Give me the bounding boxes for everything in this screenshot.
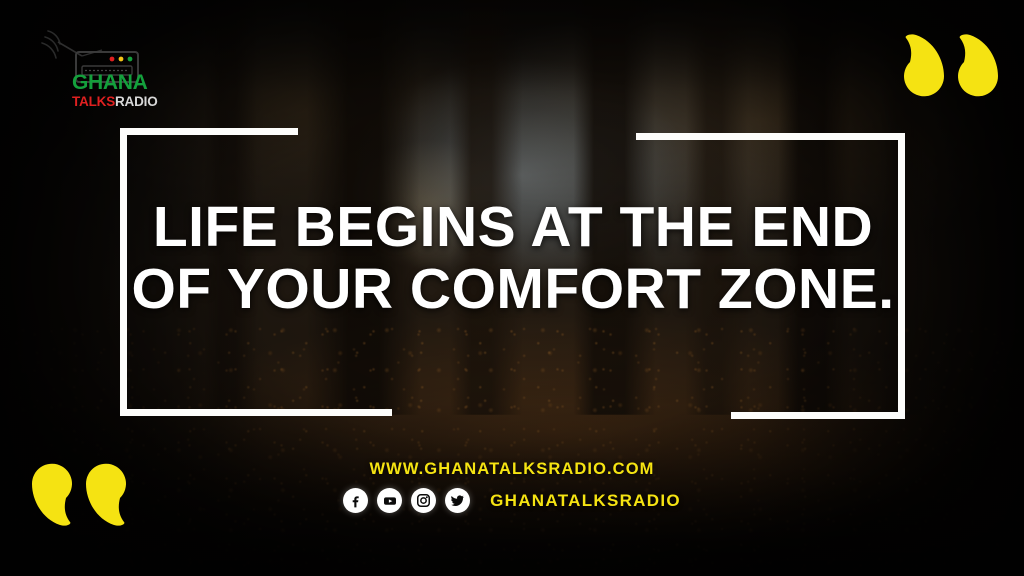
youtube-icon[interactable]	[377, 488, 402, 513]
instagram-glyph	[416, 493, 431, 508]
facebook-icon[interactable]	[343, 488, 368, 513]
quote-graphic-canvas: GHANA TALKSRADIO LIFE BEGINS AT THE END …	[0, 0, 1024, 576]
website-url[interactable]: WWW.GHANATALKSRADIO.COM	[0, 460, 1024, 479]
frame-border-bottom-left	[120, 409, 392, 416]
footer: WWW.GHANATALKSRADIO.COM	[0, 460, 1024, 513]
instagram-icon[interactable]	[411, 488, 436, 513]
logo-led-red	[110, 57, 115, 62]
youtube-glyph	[382, 493, 398, 509]
quote-line-2: OF YOUR COMFORT ZONE.	[120, 258, 906, 320]
logo-led-yellow	[119, 57, 124, 62]
quote-text-block: LIFE BEGINS AT THE END OF YOUR COMFORT Z…	[120, 196, 906, 320]
logo-word-talks: TALKS	[72, 94, 115, 109]
twitter-icon[interactable]	[445, 488, 470, 513]
social-handle[interactable]: GHANATALKSRADIO	[490, 491, 681, 511]
facebook-glyph	[348, 493, 363, 508]
frame-border-bottom-right	[731, 412, 905, 419]
logo-word-radio: RADIO	[115, 94, 158, 109]
ghana-talks-radio-logo: GHANA TALKSRADIO	[38, 28, 158, 106]
quote-line-1: LIFE BEGINS AT THE END	[120, 196, 906, 258]
quote-mark-closing-glyph	[900, 32, 1004, 114]
frame-border-top-left	[120, 128, 298, 135]
frame-border-top-right	[636, 133, 905, 140]
logo-word-ghana: GHANA	[72, 71, 148, 94]
social-links-row: GHANATALKSRADIO	[0, 488, 1024, 513]
twitter-glyph	[450, 493, 465, 508]
quote-mark-closing-icon	[900, 32, 1004, 119]
logo-led-green	[128, 57, 133, 62]
